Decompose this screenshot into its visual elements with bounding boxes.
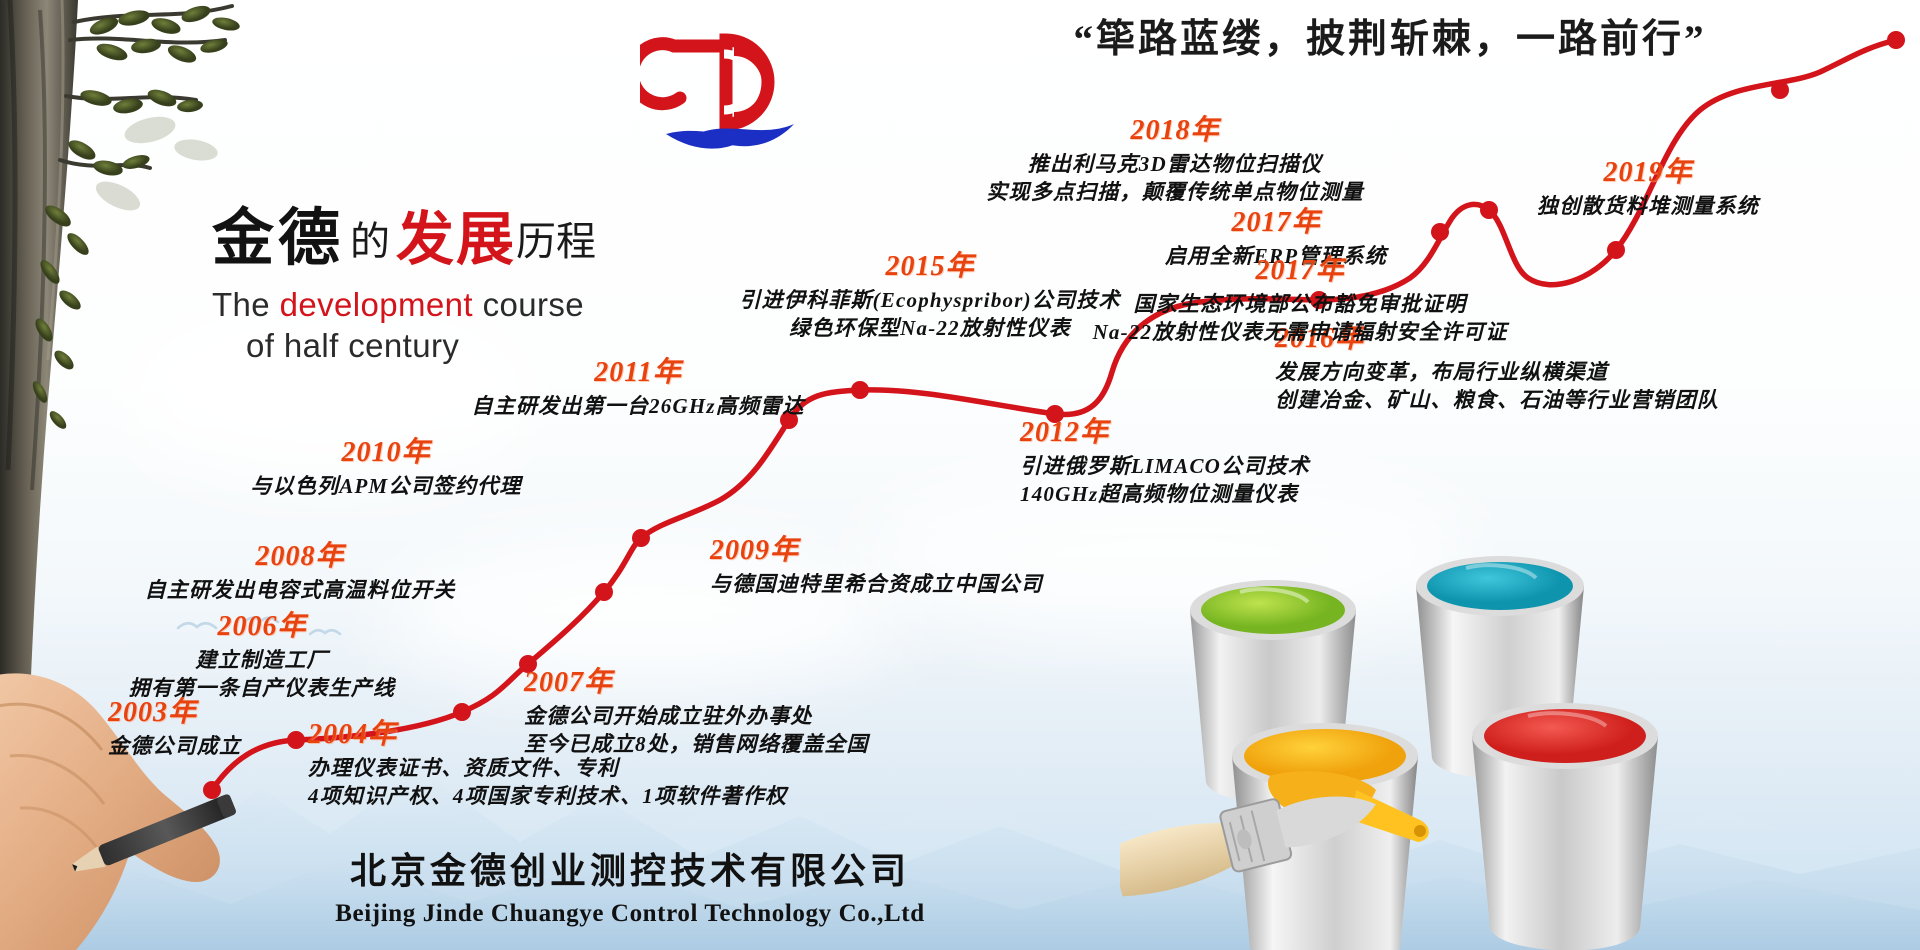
headline-particle: 的 [344,222,396,262]
milestone-line: 推出利马克3D雷达物位扫描仪 [986,151,1363,179]
headline-en-course: course [473,286,584,323]
milestone-line: 金德公司开始成立驻外办事处 [524,703,869,731]
milestone-2011-7: 2011年自主研发出第一台26GHz高频雷达 [471,350,804,421]
headline-brand: 金德 [212,208,344,270]
milestone-line: 与德国迪特里希合资成立中国公司 [710,571,1043,599]
milestone-year: 2018年 [986,108,1363,148]
headline-development: 发展 [396,211,516,269]
milestone-year: 2008年 [145,534,456,574]
milestone-line: 绿色环保型Na-22放射性仪表 [739,315,1120,343]
timeline-node [851,381,869,399]
milestone-year: 2007年 [524,660,869,700]
milestone-year: 2009年 [710,528,1043,568]
milestone-line: 办理仪表证书、资质文件、专利 [308,755,787,783]
jinde-logo [640,20,820,155]
timeline-node [1607,241,1625,259]
milestone-year: 2017年 [1093,248,1508,288]
milestone-year: 2010年 [250,430,521,470]
milestone-2008-4: 2008年自主研发出电容式高温料位开关 [145,534,456,605]
milestone-2009-5: 2009年与德国迪特里希合资成立中国公司 [710,528,1043,599]
company-name-en: Beijing Jinde Chuangye Control Technolog… [0,900,1260,928]
milestone-2017-12: 2017年国家生态环境部公布豁免审批证明Na-22放射性仪表无需申请辐射安全许可… [1093,248,1508,346]
milestone-line: 至今已成立8处，销售网络覆盖全国 [524,731,869,759]
milestone-2012-8: 2012年引进俄罗斯LIMACO公司技术140GHz超高频物位测量仪表 [1020,410,1310,508]
milestone-line: 与以色列APM公司签约代理 [250,473,521,501]
milestone-year: 2011年 [471,350,804,390]
milestone-line: 实现多点扫描，颠覆传统单点物位测量 [986,179,1363,207]
milestone-2019-14: 2019年独创散货料堆测量系统 [1537,150,1759,221]
poster-canvas: “筚路蓝缕，披荆斩棘，一路前行” 金德的发展历程 The development… [0,0,1920,950]
milestone-line: 140GHz超高频物位测量仪表 [1020,481,1310,509]
company-name-cn: 北京金德创业测控技术有限公司 [0,842,1260,894]
milestone-year: 2012年 [1020,410,1310,450]
milestone-line: 独创散货料堆测量系统 [1537,193,1759,221]
timeline-node [1480,201,1498,219]
timeline-node [203,781,221,799]
milestone-line: Na-22放射性仪表无需申请辐射安全许可证 [1093,319,1508,347]
milestone-2007-3: 2007年金德公司开始成立驻外办事处至今已成立8处，销售网络覆盖全国 [524,660,869,758]
milestone-line: 建立制造工厂 [129,647,395,675]
poster-slogan: “筚路蓝缕，披荆斩棘，一路前行” [960,8,1820,64]
timeline-node [1771,81,1789,99]
milestone-2018-13: 2018年推出利马克3D雷达物位扫描仪实现多点扫描，颠覆传统单点物位测量 [986,108,1363,206]
timeline-node [287,731,305,749]
milestone-line: 自主研发出第一台26GHz高频雷达 [471,393,804,421]
headline-chinese: 金德的发展历程 [212,208,596,270]
milestone-year: 2019年 [1537,150,1759,190]
headline-block: 金德的发展历程 The development course of half c… [212,208,596,367]
milestone-line: 4项知识产权、4项国家专利技术、1项软件著作权 [308,783,787,811]
milestone-line: 创建冶金、矿山、粮食、石油等行业营销团队 [1275,387,1719,415]
company-footer: 北京金德创业测控技术有限公司 Beijing Jinde Chuangye Co… [0,842,1260,928]
headline-course: 历程 [516,222,596,262]
timeline-node [595,583,613,601]
timeline-node [632,529,650,547]
milestone-line: 引进伊科菲斯(Ecophyspribor)公司技术 [739,287,1120,315]
headline-en-the: The [212,286,280,323]
milestone-line: 国家生态环境部公布豁免审批证明 [1093,291,1508,319]
milestone-line: 引进俄罗斯LIMACO公司技术 [1020,453,1310,481]
milestone-2006-2: 2006年建立制造工厂拥有第一条自产仪表生产线 [129,604,395,702]
headline-en-development: development [280,286,473,323]
timeline-node [1887,31,1905,49]
timeline-node [1431,223,1449,241]
milestone-year: 2006年 [129,604,395,644]
milestone-line: 发展方向变革，布局行业纵横渠道 [1275,359,1719,387]
milestone-line: 自主研发出电容式高温料位开关 [145,577,456,605]
milestone-line: 金德公司成立 [108,733,241,761]
milestone-line: 拥有第一条自产仪表生产线 [129,675,395,703]
milestone-2010-6: 2010年与以色列APM公司签约代理 [250,430,521,501]
milestone-2015-9: 2015年引进伊科菲斯(Ecophyspribor)公司技术绿色环保型Na-22… [739,244,1120,342]
milestone-year: 2015年 [739,244,1120,284]
